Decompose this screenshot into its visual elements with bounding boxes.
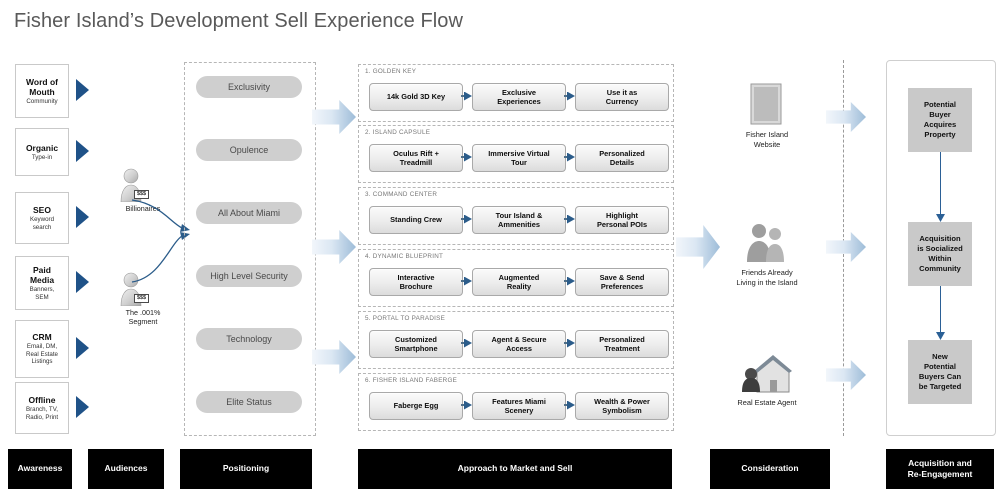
- awareness-subtitle: Banners,SEM: [30, 286, 55, 301]
- footer-bar-4[interactable]: Approach to Market and Sell: [358, 449, 672, 489]
- arrow-head: [567, 215, 575, 224]
- approach-group-title: 1. GOLDEN KEY: [365, 68, 416, 75]
- arrow-head: [936, 332, 945, 340]
- approach-step-1-3[interactable]: Use it asCurrency: [575, 83, 669, 111]
- diagram-canvas: Fisher Island’s Development Sell Experie…: [0, 0, 1000, 495]
- approach-step-3-2[interactable]: Tour Island &Ammenities: [472, 206, 566, 234]
- footer-bar-6[interactable]: Acquisition andRe-Engagement: [886, 449, 994, 489]
- awareness-title: Word ofMouth: [26, 77, 58, 97]
- awareness-subtitle: Community: [26, 98, 57, 105]
- approach-step-3-1[interactable]: Standing Crew: [369, 206, 463, 234]
- audience-connector-lines: [130, 170, 190, 295]
- approach-arrow-1-2: [564, 92, 575, 101]
- positioning-pill-1[interactable]: Exclusivity: [196, 76, 302, 98]
- footer-bar-label: Approach to Market and Sell: [458, 463, 573, 474]
- approach-arrow-1-1: [461, 92, 472, 101]
- approach-group-title: 5. PORTAL TO PARADISE: [365, 315, 445, 322]
- arrow-head: [936, 214, 945, 222]
- footer-bar-2[interactable]: Audiences: [88, 449, 164, 489]
- approach-group-title: 2. ISLAND CAPSULE: [365, 129, 430, 136]
- approach-group-1: 1. GOLDEN KEY14k Gold 3D KeyExclusiveExp…: [358, 64, 674, 122]
- approach-step-3-3[interactable]: HighlightPersonal POIs: [575, 206, 669, 234]
- approach-step-5-3[interactable]: PersonalizedTreatment: [575, 330, 669, 358]
- footer-bar-1[interactable]: Awareness: [8, 449, 72, 489]
- approach-step-4-2[interactable]: AugmentedReality: [472, 268, 566, 296]
- awareness-subtitle: Email, DM,Real EstateListings: [26, 343, 58, 365]
- footer-bar-label: Acquisition andRe-Engagement: [908, 458, 973, 481]
- arrow-shaft: [940, 286, 942, 333]
- approach-step-1-2[interactable]: ExclusiveExperiences: [472, 83, 566, 111]
- approach-group-title: 4. DYNAMIC BLUEPRINT: [365, 253, 443, 260]
- acquisition-box-1[interactable]: PotentialBuyerAcquiresProperty: [908, 88, 972, 152]
- arrow-head: [464, 153, 472, 162]
- house-agent-icon: [737, 348, 797, 398]
- awareness-box-5[interactable]: CRMEmail, DM,Real EstateListings: [15, 320, 69, 378]
- approach-group-title: 6. FISHER ISLAND FABERGE: [365, 377, 457, 384]
- arrow-shaft: [940, 152, 942, 215]
- arrow-head: [567, 277, 575, 286]
- awareness-title: CRM: [32, 332, 51, 342]
- approach-step-2-3[interactable]: PersonalizedDetails: [575, 144, 669, 172]
- footer-bar-3[interactable]: Positioning: [180, 449, 312, 489]
- page-title: Fisher Island’s Development Sell Experie…: [14, 10, 463, 33]
- arrow-head: [464, 215, 472, 224]
- acquisition-box-2[interactable]: Acquisitionis SocializedWithinCommunity: [908, 222, 972, 286]
- approach-arrow-3-2: [564, 215, 575, 224]
- awareness-box-4[interactable]: PaidMediaBanners,SEM: [15, 256, 69, 310]
- approach-group-3: 3. COMMAND CENTERStanding CrewTour Islan…: [358, 187, 674, 245]
- approach-group-2: 2. ISLAND CAPSULEOculus Rift +TreadmillI…: [358, 125, 674, 183]
- approach-step-1-1[interactable]: 14k Gold 3D Key: [369, 83, 463, 111]
- flow-arrow-positioning-to-approach-3: [312, 340, 356, 374]
- awareness-subtitle: Keywordsearch: [30, 216, 54, 231]
- two-people-icon: [737, 218, 797, 268]
- awareness-chevron-icon-6: [76, 396, 89, 418]
- arrow-head: [464, 277, 472, 286]
- approach-step-4-1[interactable]: InteractiveBrochure: [369, 268, 463, 296]
- awareness-subtitle: Branch, TV,Radio, Print: [26, 406, 58, 421]
- approach-step-4-3[interactable]: Save & SendPreferences: [575, 268, 669, 296]
- positioning-pill-4[interactable]: High Level Security: [196, 265, 302, 287]
- consideration-item-3[interactable]: Real Estate Agent: [697, 348, 837, 428]
- approach-step-2-1[interactable]: Oculus Rift +Treadmill: [369, 144, 463, 172]
- approach-arrow-2-1: [461, 153, 472, 162]
- approach-step-6-1[interactable]: Faberge Egg: [369, 392, 463, 420]
- positioning-pill-5[interactable]: Technology: [196, 328, 302, 350]
- positioning-container: [184, 62, 316, 436]
- awareness-chevron-icon-2: [76, 140, 89, 162]
- awareness-box-3[interactable]: SEOKeywordsearch: [15, 192, 69, 244]
- footer-bar-label: Consideration: [741, 463, 798, 474]
- awareness-box-6[interactable]: OfflineBranch, TV,Radio, Print: [15, 382, 69, 434]
- flow-arrow-positioning-to-approach-1: [312, 100, 356, 134]
- consideration-label: Real Estate Agent: [697, 398, 837, 408]
- awareness-box-2[interactable]: OrganicType-in: [15, 128, 69, 176]
- footer-bar-label: Positioning: [223, 463, 269, 474]
- consideration-label: Friends AlreadyLiving in the Island: [697, 268, 837, 287]
- awareness-subtitle: Type-in: [32, 154, 52, 161]
- approach-arrow-4-2: [564, 277, 575, 286]
- approach-arrow-3-1: [461, 215, 472, 224]
- awareness-title: PaidMedia: [30, 265, 54, 285]
- acquisition-arrow-1: [936, 152, 945, 222]
- document-page-icon: [737, 80, 797, 130]
- approach-arrow-5-2: [564, 339, 575, 348]
- awareness-title: Offline: [29, 395, 56, 405]
- consideration-label: Fisher IslandWebsite: [697, 130, 837, 149]
- arrow-head: [464, 339, 472, 348]
- positioning-pill-2[interactable]: Opulence: [196, 139, 302, 161]
- money-badge: $$$: [134, 294, 149, 303]
- awareness-chevron-icon-4: [76, 271, 89, 293]
- awareness-title: SEO: [33, 205, 51, 215]
- positioning-pill-6[interactable]: Elite Status: [196, 391, 302, 413]
- arrow-head: [567, 401, 575, 410]
- approach-group-6: 6. FISHER ISLAND FABERGEFaberge EggFeatu…: [358, 373, 674, 431]
- arrow-head: [567, 153, 575, 162]
- footer-bar-5[interactable]: Consideration: [710, 449, 830, 489]
- awareness-title: Organic: [26, 143, 58, 153]
- awareness-chevron-icon-5: [76, 337, 89, 359]
- approach-arrow-6-1: [461, 401, 472, 410]
- awareness-box-1[interactable]: Word ofMouthCommunity: [15, 64, 69, 118]
- approach-arrow-4-1: [461, 277, 472, 286]
- approach-group-4: 4. DYNAMIC BLUEPRINTInteractiveBrochureA…: [358, 249, 674, 307]
- awareness-chevron-icon-3: [76, 206, 89, 228]
- flow-arrow-positioning-to-approach-2: [312, 230, 356, 264]
- arrow-head: [464, 401, 472, 410]
- arrow-head: [464, 92, 472, 101]
- consideration-item-2[interactable]: Friends AlreadyLiving in the Island: [697, 218, 837, 298]
- approach-group-5: 5. PORTAL TO PARADISECustomizedSmartphon…: [358, 311, 674, 369]
- positioning-pill-3[interactable]: All About Miami: [196, 202, 302, 224]
- approach-step-2-2[interactable]: Immersive VirtualTour: [472, 144, 566, 172]
- footer-bar-label: Awareness: [18, 463, 63, 474]
- arrow-head: [567, 339, 575, 348]
- approach-arrow-2-2: [564, 153, 575, 162]
- approach-arrow-5-1: [461, 339, 472, 348]
- footer-bar-label: Audiences: [105, 463, 148, 474]
- awareness-chevron-icon-1: [76, 79, 89, 101]
- arrow-head: [567, 92, 575, 101]
- audience-label: The .001%Segment: [104, 308, 182, 326]
- consideration-item-1[interactable]: Fisher IslandWebsite: [697, 80, 837, 160]
- approach-step-6-3[interactable]: Wealth & PowerSymbolism: [575, 392, 669, 420]
- approach-step-6-2[interactable]: Features MiamiScenery: [472, 392, 566, 420]
- acquisition-box-3[interactable]: NewPotentialBuyers Canbe Targeted: [908, 340, 972, 404]
- approach-step-5-1[interactable]: CustomizedSmartphone: [369, 330, 463, 358]
- approach-step-5-2[interactable]: Agent & SecureAccess: [472, 330, 566, 358]
- approach-group-title: 3. COMMAND CENTER: [365, 191, 437, 198]
- acquisition-arrow-2: [936, 286, 945, 340]
- approach-arrow-6-2: [564, 401, 575, 410]
